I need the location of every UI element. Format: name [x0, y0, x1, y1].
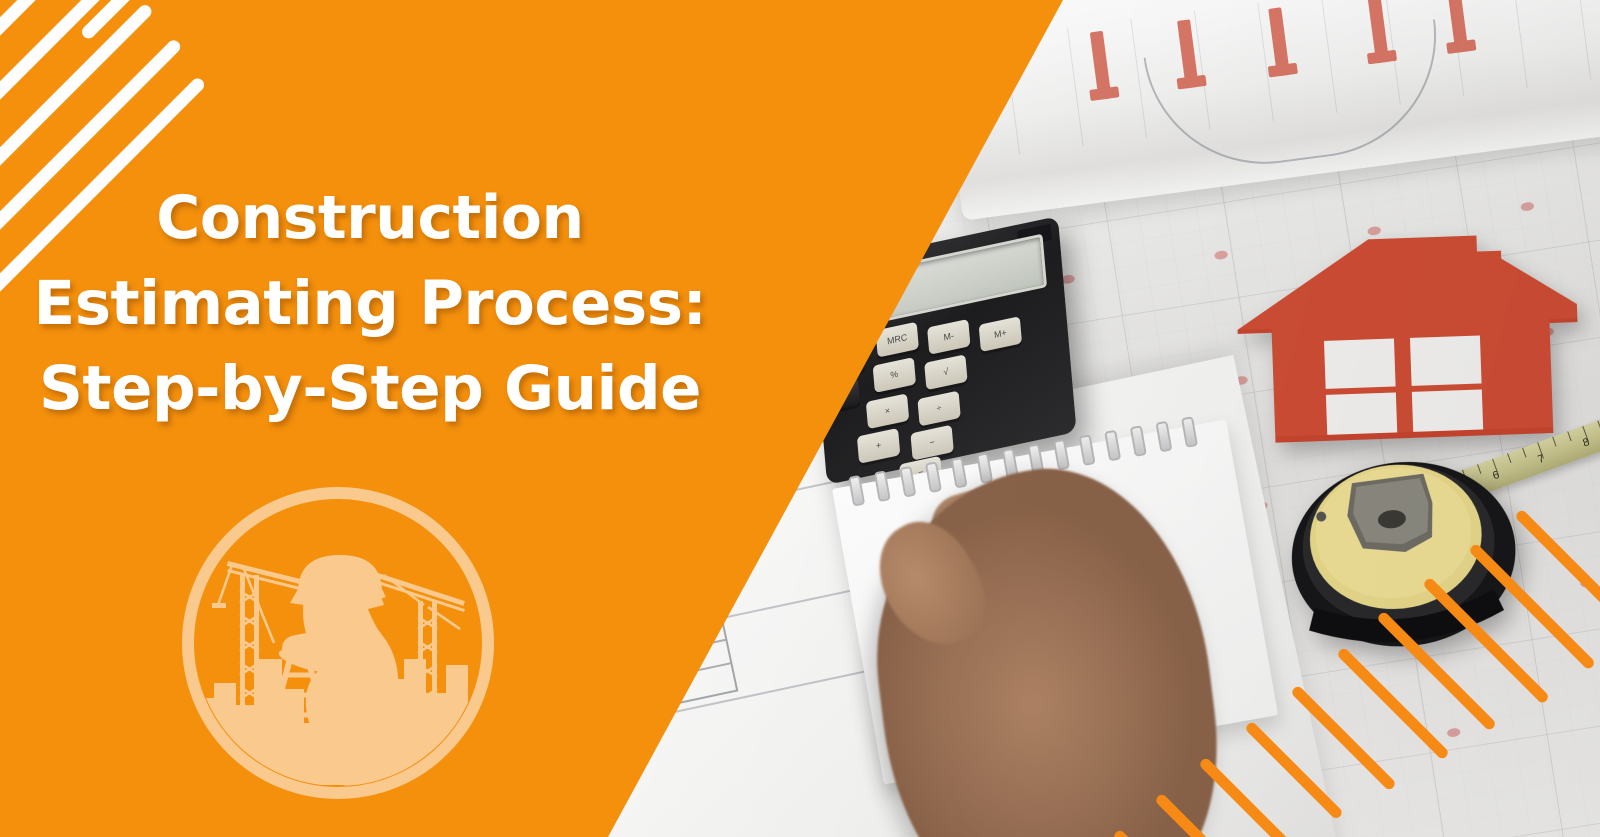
title-line-3: Step-by-Step Guide — [0, 346, 740, 431]
calculator-key-multiply: × — [866, 393, 909, 429]
title-line-2: Estimating Process: — [0, 261, 740, 346]
construction-worker-emblem — [178, 483, 498, 803]
calculator-key-divide: ÷ — [917, 391, 960, 427]
title-line-1: Construction — [0, 176, 740, 261]
banner-root: MRC M- M+ 9 6 % √ × ÷ + − = — [0, 0, 1600, 837]
calculator-key-sqrt: √ — [924, 354, 967, 390]
calculator-key-minus: − — [910, 425, 953, 461]
calculator-key-percent: % — [873, 357, 916, 393]
diagonal-stripes-orange — [1340, 587, 1600, 837]
page-title: Construction Estimating Process: Step-by… — [0, 176, 740, 431]
calculator-key-plus: + — [857, 428, 900, 464]
red-house-cutout — [1228, 226, 1587, 453]
calculator-key-m-plus: M+ — [979, 316, 1022, 352]
calculator-key-m-minus: M- — [927, 319, 970, 355]
